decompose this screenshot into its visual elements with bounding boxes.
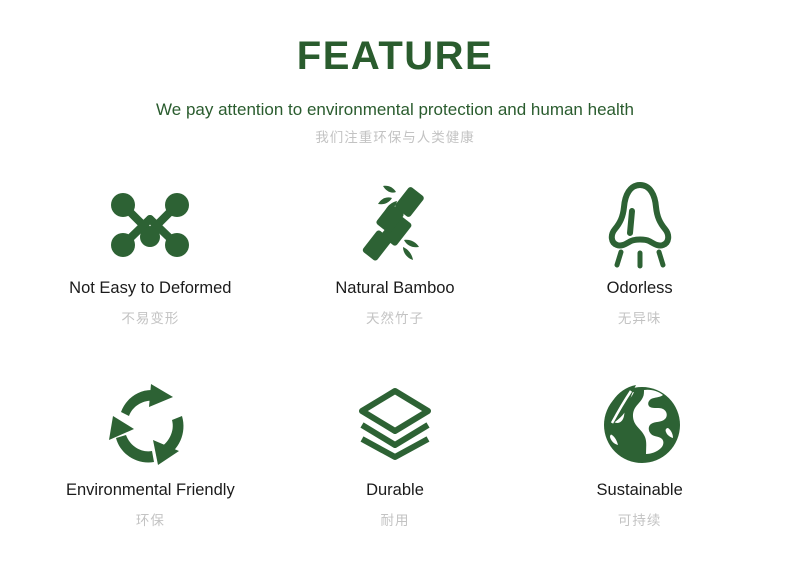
- feature-label-cn: 耐用: [380, 513, 409, 529]
- feature-label-en: Natural Bamboo: [335, 279, 454, 299]
- subtitle-chinese: 我们注重环保与人类健康: [0, 130, 790, 146]
- feature-item-environmental-friendly: Environmental Friendly 环保: [28, 369, 273, 565]
- feature-label-en: Not Easy to Deformed: [69, 279, 231, 299]
- feature-label-en: Sustainable: [597, 481, 683, 501]
- feature-header: FEATURE We pay attention to environmenta…: [0, 0, 790, 147]
- page-title: FEATURE: [0, 34, 790, 78]
- molecule-cross-icon: [107, 173, 193, 277]
- feature-item-odorless: Odorless 无异味: [517, 173, 762, 369]
- feature-label-en: Durable: [366, 481, 424, 501]
- feature-label-en: Environmental Friendly: [66, 481, 235, 501]
- feature-label-cn: 可持续: [618, 513, 662, 529]
- feature-label-cn: 不易变形: [121, 311, 179, 327]
- feature-label-en: Odorless: [607, 279, 673, 299]
- feature-item-not-easy-to-deformed: Not Easy to Deformed 不易变形: [28, 173, 273, 369]
- feature-label-cn: 无异味: [618, 311, 662, 327]
- nose-icon: [604, 173, 676, 277]
- feature-item-durable: Durable 耐用: [273, 369, 518, 565]
- feature-item-sustainable: Sustainable 可持续: [517, 369, 762, 565]
- recycle-icon: [107, 369, 193, 479]
- feature-grid: Not Easy to Deformed 不易变形: [0, 173, 790, 565]
- subtitle-english: We pay attention to environmental protec…: [0, 100, 790, 120]
- feature-item-natural-bamboo: Natural Bamboo 天然竹子: [273, 173, 518, 369]
- bamboo-icon: [356, 173, 434, 277]
- globe-leaf-icon: [598, 369, 682, 479]
- feature-section: FEATURE We pay attention to environmenta…: [0, 0, 790, 576]
- layers-stack-icon: [356, 369, 434, 479]
- feature-label-cn: 天然竹子: [366, 311, 424, 327]
- feature-label-cn: 环保: [136, 513, 165, 529]
